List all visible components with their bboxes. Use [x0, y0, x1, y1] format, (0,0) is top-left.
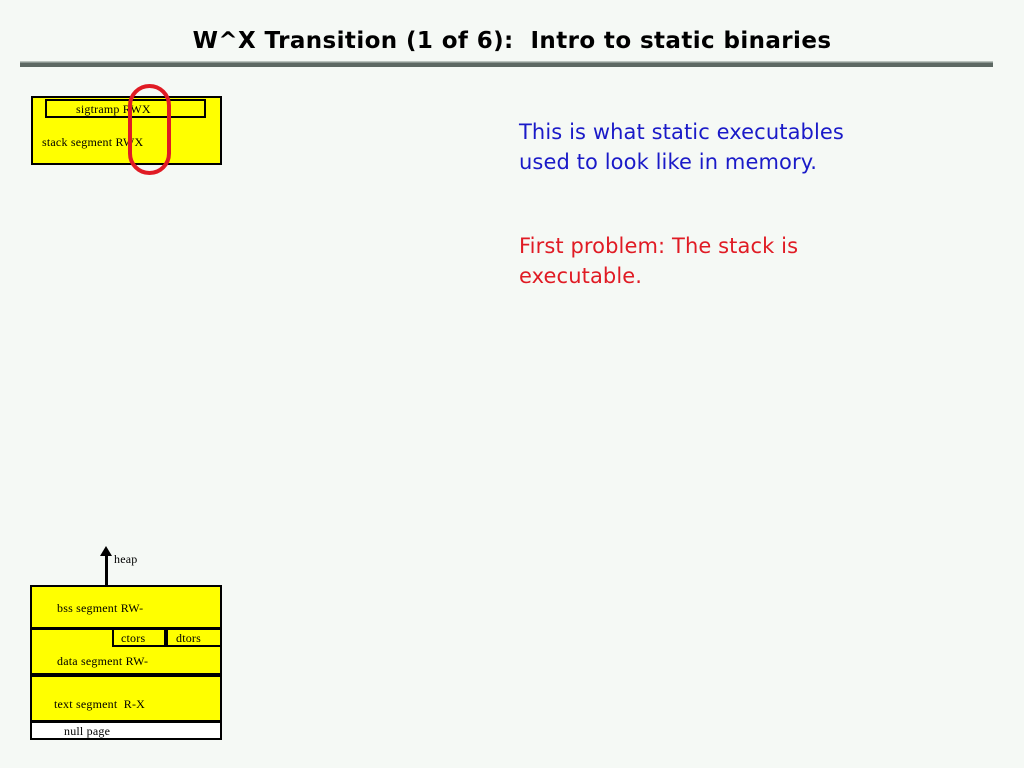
bss-segment-label: bss segment RW- — [57, 601, 143, 616]
note-first-problem: First problem: The stack is executable. — [519, 231, 939, 291]
heap-label: heap — [114, 552, 137, 567]
text-segment-label: text segment R-X — [54, 697, 145, 712]
note-static-executables: This is what static executables used to … — [519, 117, 969, 177]
ctors-label: ctors — [121, 631, 145, 646]
null-page-box — [30, 721, 222, 740]
heap-arrow-shaft — [105, 554, 108, 586]
dtors-label: dtors — [176, 631, 201, 646]
null-page-label: null page — [64, 724, 110, 739]
slide-canvas: W^X Transition (1 of 6): Intro to static… — [0, 0, 1024, 768]
memory-layout-diagram: heap bss segment RW- data segment RW- ct… — [0, 0, 260, 768]
data-segment-label: data segment RW- — [57, 654, 148, 669]
